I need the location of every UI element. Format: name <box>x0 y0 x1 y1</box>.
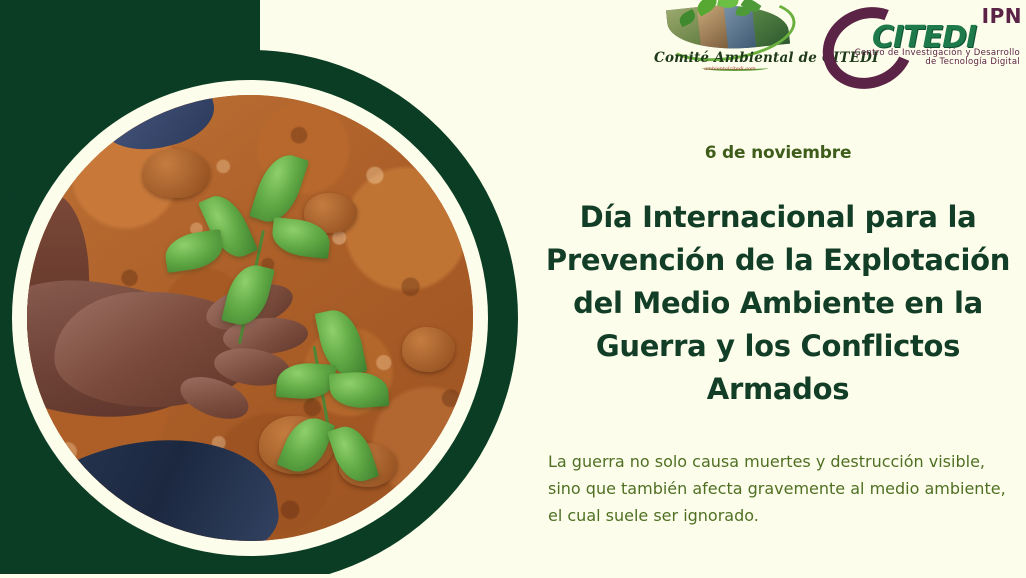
bottom-cream-strip <box>0 574 460 578</box>
citedi-logo: IPN CITEDI Centro de Investigación y Des… <box>820 4 1026 70</box>
comite-ambiental-caption: Comité Ambiental de CITEDI <box>654 50 806 66</box>
left-graphic-panel <box>0 0 540 578</box>
ipn-wordmark: IPN <box>982 4 1022 28</box>
logo-bar: Comité Ambiental de CITEDI ambientalcite… <box>530 0 1026 86</box>
event-date: 6 de noviembre <box>530 143 1026 163</box>
right-content-panel: Comité Ambiental de CITEDI ambientalcite… <box>530 0 1026 578</box>
photo-inner <box>27 95 473 541</box>
citedi-subtitle-line2: de Tecnología Digital <box>925 57 1020 67</box>
soil-clod <box>143 149 210 198</box>
poster-canvas: Comité Ambiental de CITEDI ambientalcite… <box>0 0 1026 578</box>
page-title: Día Internacional para la Prevención de … <box>534 196 1022 411</box>
soil-clod <box>402 327 456 372</box>
hand-planting-seedling-photo <box>27 95 473 541</box>
comite-ambiental-logo: Comité Ambiental de CITEDI ambientalcite… <box>654 2 806 80</box>
body-paragraph: La guerra no solo causa muertes y destru… <box>548 448 1006 529</box>
comite-ambiental-subcaption: ambientalcitedi.com <box>654 66 806 72</box>
